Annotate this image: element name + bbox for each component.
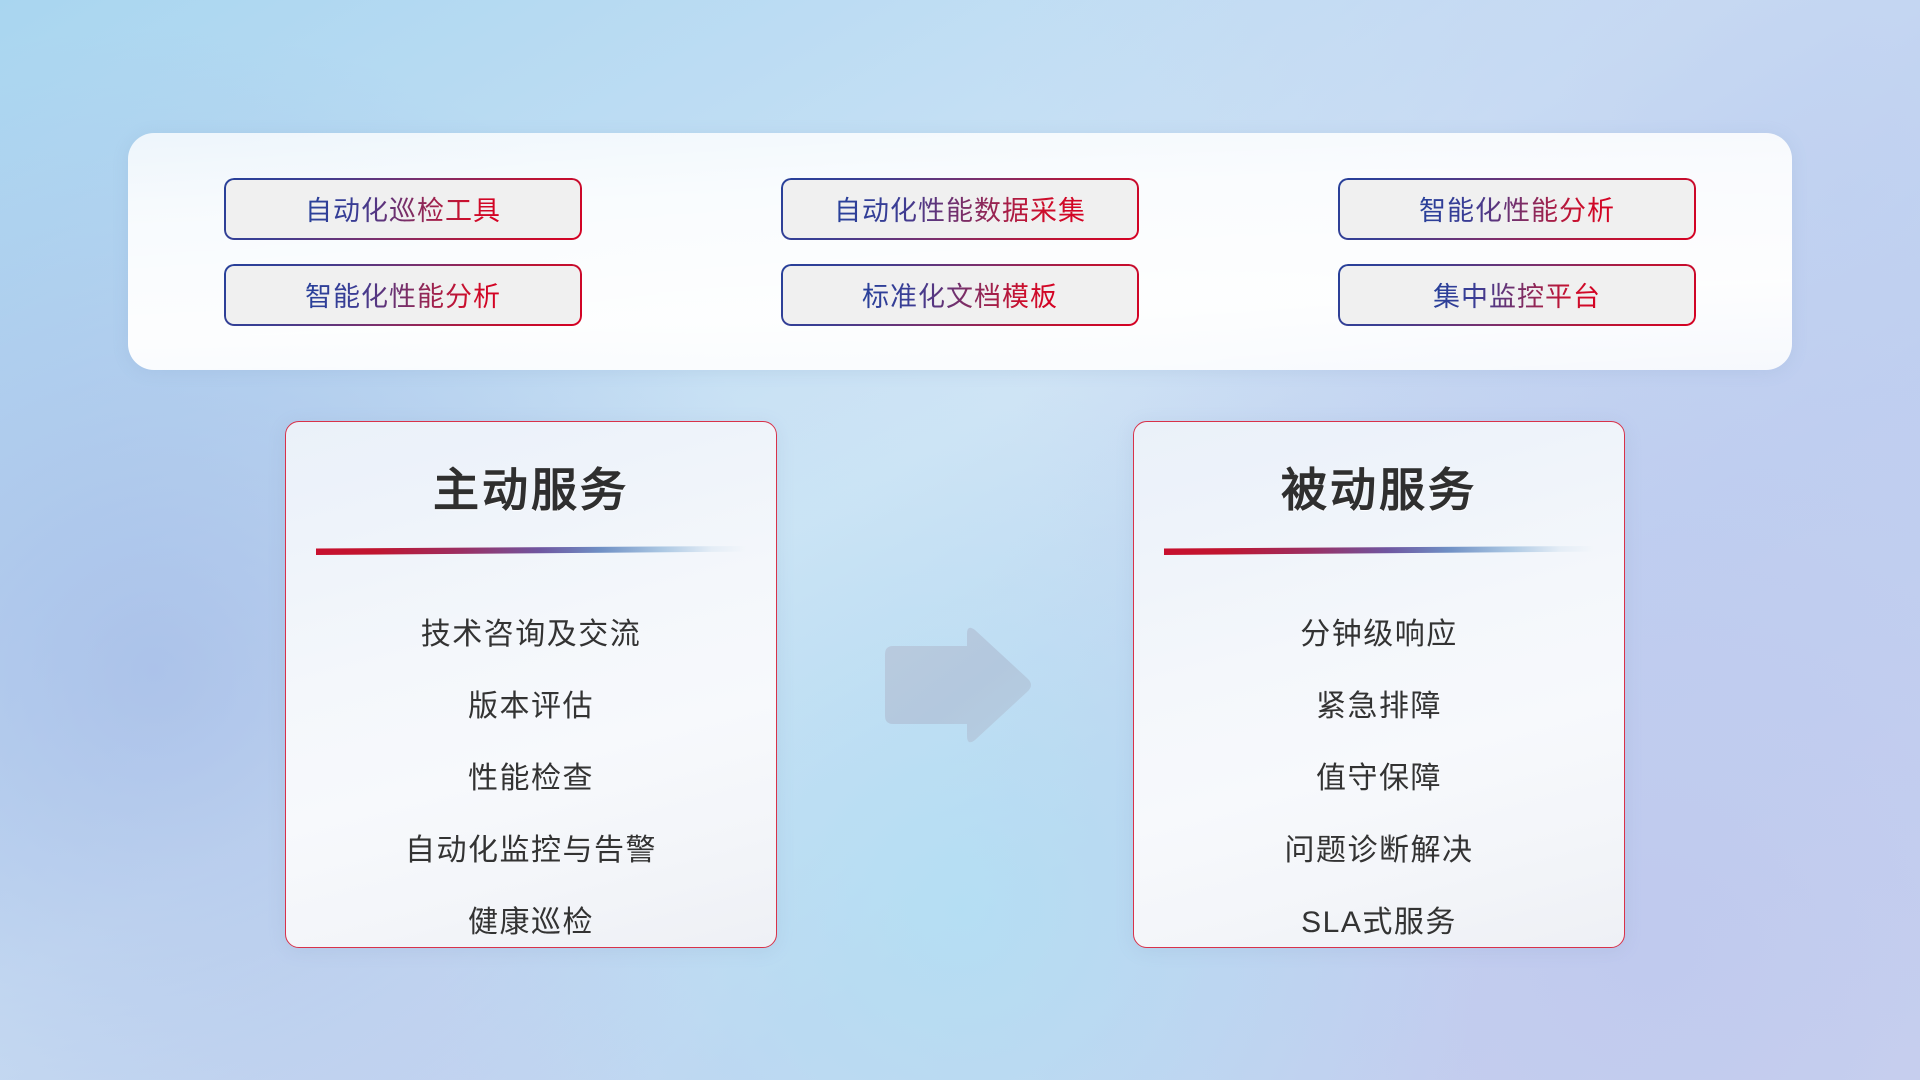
capability-pill[interactable]: 智能化性能分析 [1338, 178, 1696, 240]
service-item: 性能检查 [286, 743, 776, 815]
capability-pill-label: 集中监控平台 [1433, 275, 1601, 314]
capability-pill-label: 智能化性能分析 [305, 275, 501, 314]
capability-pill-label: 标准化文档模板 [862, 275, 1058, 314]
service-item: 自动化监控与告警 [286, 815, 776, 887]
title-divider [316, 546, 746, 555]
capability-pill[interactable]: 自动化性能数据采集 [781, 178, 1139, 240]
capability-pill[interactable]: 标准化文档模板 [781, 264, 1139, 326]
capability-pill-label: 智能化性能分析 [1419, 189, 1615, 228]
capabilities-column-3: 智能化性能分析 集中监控平台 [1338, 178, 1696, 326]
title-divider-bar [316, 546, 746, 555]
service-item: 紧急排障 [1134, 671, 1624, 743]
service-item: 值守保障 [1134, 743, 1624, 815]
right-arrow-icon [875, 622, 1035, 748]
capability-pill[interactable]: 智能化性能分析 [224, 264, 582, 326]
service-card-active: 主动服务 技术咨询及交流 版本评估 性能检查 自动化监控与告警 健康巡检 [285, 421, 777, 948]
capabilities-column-2: 自动化性能数据采集 标准化文档模板 [781, 178, 1139, 326]
service-card-title: 被动服务 [1134, 454, 1624, 520]
service-item: 版本评估 [286, 671, 776, 743]
service-item: SLA式服务 [1134, 887, 1624, 948]
service-item: 问题诊断解决 [1134, 815, 1624, 887]
slide-canvas: 自动化巡检工具 智能化性能分析 自动化性能数据采集 标准化文档模板 智能化性能分… [0, 0, 1920, 1080]
capability-pill-label: 自动化巡检工具 [305, 189, 501, 228]
service-item: 技术咨询及交流 [286, 599, 776, 671]
capabilities-panel: 自动化巡检工具 智能化性能分析 自动化性能数据采集 标准化文档模板 智能化性能分… [128, 133, 1792, 370]
service-item: 健康巡检 [286, 887, 776, 948]
service-item-list: 分钟级响应 紧急排障 值守保障 问题诊断解决 SLA式服务 [1134, 599, 1624, 948]
capability-pill[interactable]: 自动化巡检工具 [224, 178, 582, 240]
title-divider-bar [1164, 546, 1594, 555]
capabilities-column-1: 自动化巡检工具 智能化性能分析 [224, 178, 582, 326]
title-divider [1164, 546, 1594, 555]
service-card-passive: 被动服务 分钟级响应 紧急排障 值守保障 问题诊断解决 SLA式服务 [1133, 421, 1625, 948]
capability-pill-label: 自动化性能数据采集 [834, 189, 1086, 228]
service-item: 分钟级响应 [1134, 599, 1624, 671]
service-item-list: 技术咨询及交流 版本评估 性能检查 自动化监控与告警 健康巡检 [286, 599, 776, 948]
capability-pill[interactable]: 集中监控平台 [1338, 264, 1696, 326]
service-card-title: 主动服务 [286, 454, 776, 520]
